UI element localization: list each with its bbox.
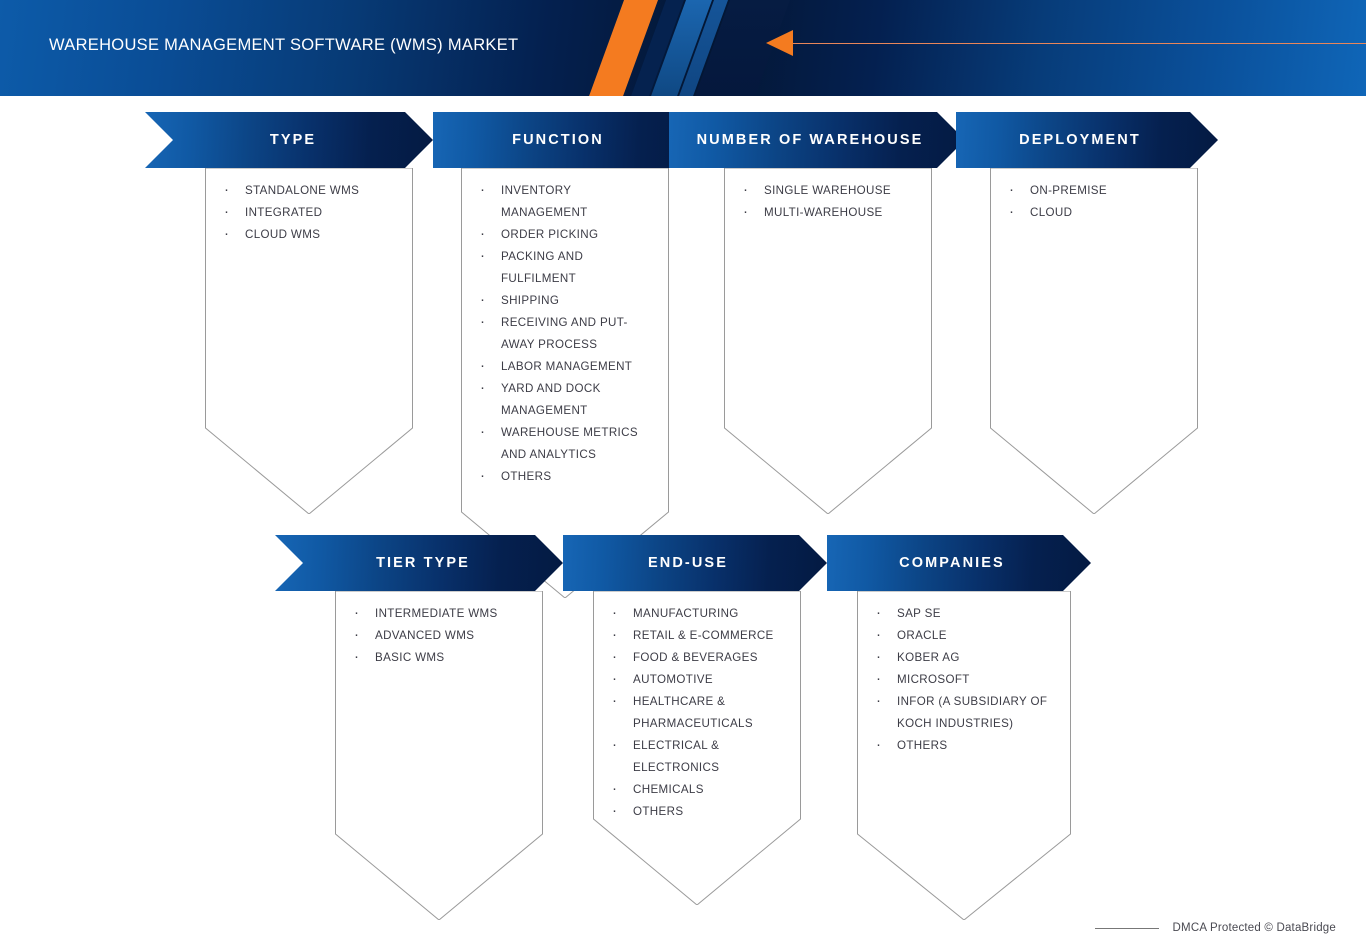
segment-card-end-use: MANUFACTURINGRETAIL & E-COMMERCEFOOD & B… xyxy=(593,591,801,905)
segment-card-deployment: ON-PREMISECLOUD xyxy=(990,168,1198,514)
left-arrow-icon xyxy=(766,30,793,56)
list-item[interactable]: OTHERS xyxy=(609,801,791,823)
list-item[interactable]: ON-PREMISE xyxy=(1006,180,1188,202)
list-item[interactable]: SAP SE xyxy=(873,603,1061,625)
list-item[interactable]: CHEMICALS xyxy=(609,779,791,801)
page-header: WAREHOUSE MANAGEMENT SOFTWARE (WMS) MARK… xyxy=(0,0,1366,96)
segment-banner-function[interactable]: FUNCTION xyxy=(433,112,697,168)
segment-card-companies: SAP SEORACLEKOBER AGMICROSOFTINFOR (A SU… xyxy=(857,591,1071,920)
list-item[interactable]: SHIPPING xyxy=(477,290,659,312)
segment-item-list: STANDALONE WMSINTEGRATEDCLOUD WMS xyxy=(205,168,413,246)
list-item[interactable]: ORACLE xyxy=(873,625,1061,647)
segment-item-list: INVENTORY MANAGEMENTORDER PICKINGPACKING… xyxy=(461,168,669,488)
list-item[interactable]: CLOUD WMS xyxy=(221,224,403,246)
list-item[interactable]: INVENTORY MANAGEMENT xyxy=(477,180,659,224)
segment-card-function: INVENTORY MANAGEMENTORDER PICKINGPACKING… xyxy=(461,168,669,598)
list-item[interactable]: ADVANCED WMS xyxy=(351,625,533,647)
list-item[interactable]: MANUFACTURING xyxy=(609,603,791,625)
segment-banner-companies[interactable]: COMPANIES xyxy=(827,535,1091,591)
segment-card-number-of-warehouse: SINGLE WAREHOUSEMULTI-WAREHOUSE xyxy=(724,168,932,514)
list-item[interactable]: MULTI-WAREHOUSE xyxy=(740,202,922,224)
list-item[interactable]: LABOR MANAGEMENT xyxy=(477,356,659,378)
segment-banner-label: NUMBER OF WAREHOUSE xyxy=(697,132,924,148)
footer-divider xyxy=(1095,928,1159,929)
segment-banner-number-of-warehouse[interactable]: NUMBER OF WAREHOUSE xyxy=(669,112,965,168)
arrow-rule xyxy=(793,43,1366,44)
segment-item-list: ON-PREMISECLOUD xyxy=(990,168,1198,224)
segment-banner-label: TYPE xyxy=(270,132,316,148)
list-item[interactable]: RECEIVING AND PUT-AWAY PROCESS xyxy=(477,312,659,356)
segment-banner-end-use[interactable]: END-USE xyxy=(563,535,827,591)
list-item[interactable]: INFOR (A SUBSIDIARY OF KOCH INDUSTRIES) xyxy=(873,691,1061,735)
segment-card-type: STANDALONE WMSINTEGRATEDCLOUD WMS xyxy=(205,168,413,514)
list-item[interactable]: INTEGRATED xyxy=(221,202,403,224)
list-item[interactable]: BASIC WMS xyxy=(351,647,533,669)
list-item[interactable]: YARD AND DOCK MANAGEMENT xyxy=(477,378,659,422)
list-item[interactable]: FOOD & BEVERAGES xyxy=(609,647,791,669)
segment-item-list: INTERMEDIATE WMSADVANCED WMSBASIC WMS xyxy=(335,591,543,669)
list-item[interactable]: INTERMEDIATE WMS xyxy=(351,603,533,625)
list-item[interactable]: RETAIL & E-COMMERCE xyxy=(609,625,791,647)
list-item[interactable]: KOBER AG xyxy=(873,647,1061,669)
list-item[interactable]: ORDER PICKING xyxy=(477,224,659,246)
list-item[interactable]: SINGLE WAREHOUSE xyxy=(740,180,922,202)
list-item[interactable]: MICROSOFT xyxy=(873,669,1061,691)
list-item[interactable]: WAREHOUSE METRICS AND ANALYTICS xyxy=(477,422,659,466)
segment-banner-label: END-USE xyxy=(648,555,728,571)
segment-banner-tier-type[interactable]: TIER TYPE xyxy=(275,535,563,591)
segment-item-list: SINGLE WAREHOUSEMULTI-WAREHOUSE xyxy=(724,168,932,224)
list-item[interactable]: PACKING AND FULFILMENT xyxy=(477,246,659,290)
list-item[interactable]: CLOUD xyxy=(1006,202,1188,224)
segment-banner-label: COMPANIES xyxy=(899,555,1005,571)
footer: DMCA Protected © DataBridge xyxy=(1095,922,1336,934)
segment-item-list: SAP SEORACLEKOBER AGMICROSOFTINFOR (A SU… xyxy=(857,591,1071,757)
list-item[interactable]: OTHERS xyxy=(477,466,659,488)
segment-banner-label: DEPLOYMENT xyxy=(1019,132,1141,148)
segment-banner-deployment[interactable]: DEPLOYMENT xyxy=(956,112,1218,168)
list-item[interactable]: HEALTHCARE & PHARMACEUTICALS xyxy=(609,691,791,735)
segment-banner-label: FUNCTION xyxy=(512,132,604,148)
segment-item-list: MANUFACTURINGRETAIL & E-COMMERCEFOOD & B… xyxy=(593,591,801,823)
list-item[interactable]: ELECTRICAL & ELECTRONICS xyxy=(609,735,791,779)
list-item[interactable]: OTHERS xyxy=(873,735,1061,757)
segment-banner-label: TIER TYPE xyxy=(376,555,470,571)
footer-copyright: DMCA Protected © DataBridge xyxy=(1173,922,1336,934)
list-item[interactable]: AUTOMOTIVE xyxy=(609,669,791,691)
segment-banner-type[interactable]: TYPE xyxy=(145,112,433,168)
list-item[interactable]: STANDALONE WMS xyxy=(221,180,403,202)
segment-card-tier-type: INTERMEDIATE WMSADVANCED WMSBASIC WMS xyxy=(335,591,543,920)
page-title: WAREHOUSE MANAGEMENT SOFTWARE (WMS) MARK… xyxy=(49,36,518,55)
